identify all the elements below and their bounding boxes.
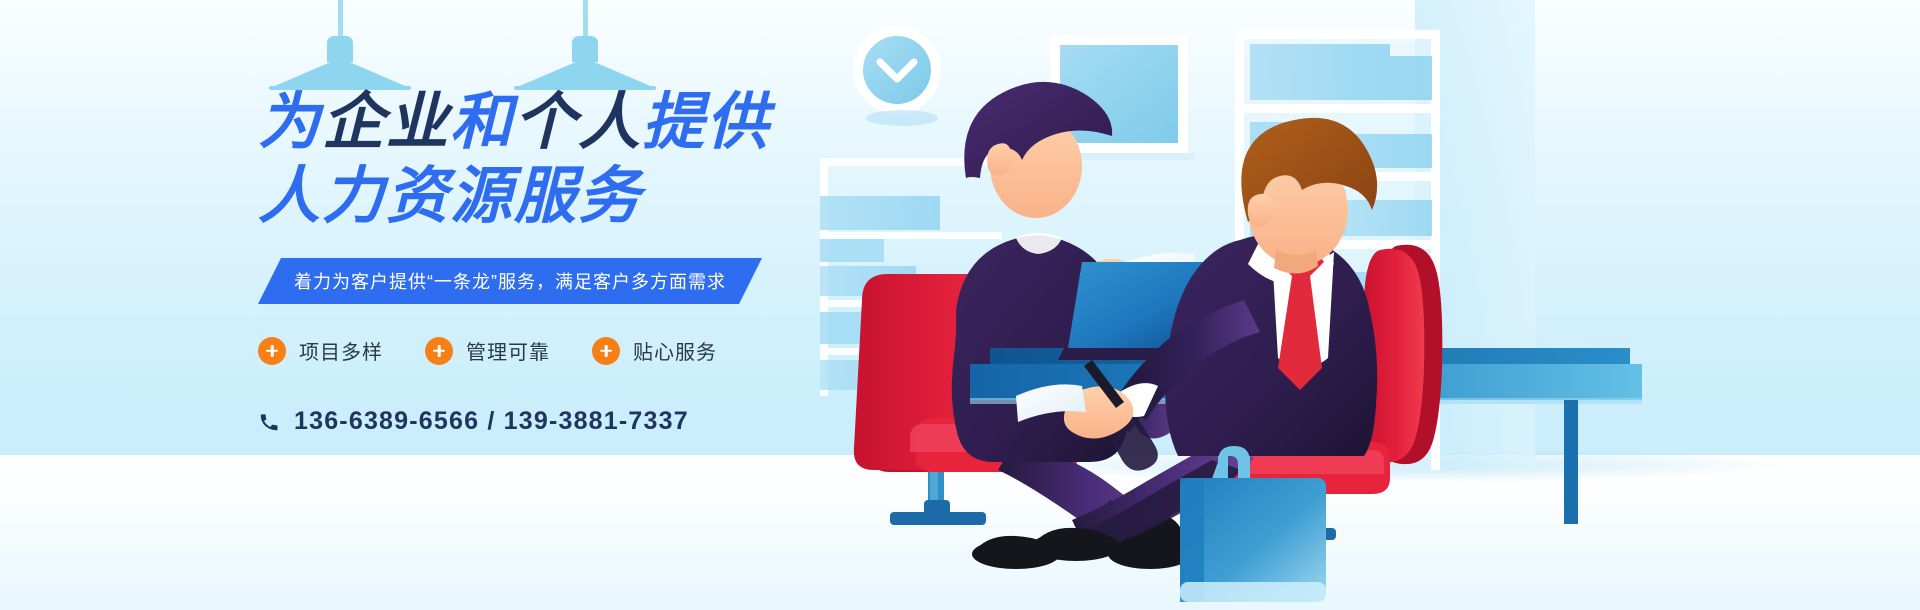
plus-icon [258, 337, 286, 365]
headline-seg-6: 人力资源服务 [258, 162, 642, 231]
headline-line-2: 人力资源服务 [258, 166, 1018, 228]
lamp-cord [338, 0, 343, 38]
headline-seg-4: 个人 [514, 88, 642, 157]
desk-leg-3 [1564, 400, 1578, 524]
phone-icon [258, 411, 280, 433]
feature-label-3: 贴心服务 [633, 336, 717, 365]
feature-label-2: 管理可靠 [466, 336, 550, 365]
headline-seg-1: 为 [258, 88, 322, 157]
feature-item-2[interactable]: 管理可靠 [425, 336, 550, 365]
headline-seg-2: 企业 [322, 88, 450, 157]
feature-label-1: 项目多样 [299, 336, 383, 365]
headline-seg-5: 提供 [642, 88, 770, 157]
headline-line-1: 为企业和个人提供 [258, 92, 1018, 154]
lamp-cord [583, 0, 588, 38]
contact-row[interactable]: 136-6389-6566 / 139-3881-7337 [258, 407, 1018, 436]
headline-seg-3: 和 [450, 88, 514, 157]
phone-number: 136-6389-6566 / 139-3881-7337 [294, 407, 689, 436]
subtitle-text: 着力为客户提供“一条龙”服务，满足客户多方面需求 [258, 268, 726, 294]
lamp-shade [270, 58, 410, 88]
plus-icon [425, 337, 453, 365]
hero-text-column: 为企业和个人提供 人力资源服务 着力为客户提供“一条龙”服务，满足客户多方面需求… [258, 92, 1018, 436]
feature-item-3[interactable]: 贴心服务 [592, 336, 717, 365]
headline: 为企业和个人提供 人力资源服务 [258, 92, 1018, 228]
right-person-ear [1248, 194, 1275, 227]
plus-icon [592, 337, 620, 365]
hero-banner: 为企业和个人提供 人力资源服务 着力为客户提供“一条龙”服务，满足客户多方面需求… [0, 0, 1920, 610]
feature-item-1[interactable]: 项目多样 [258, 336, 383, 365]
lamp-shade [515, 58, 655, 88]
feature-list: 项目多样 管理可靠 贴心服务 [258, 336, 1018, 365]
subtitle-ribbon: 着力为客户提供“一条龙”服务，满足客户多方面需求 [258, 258, 762, 304]
